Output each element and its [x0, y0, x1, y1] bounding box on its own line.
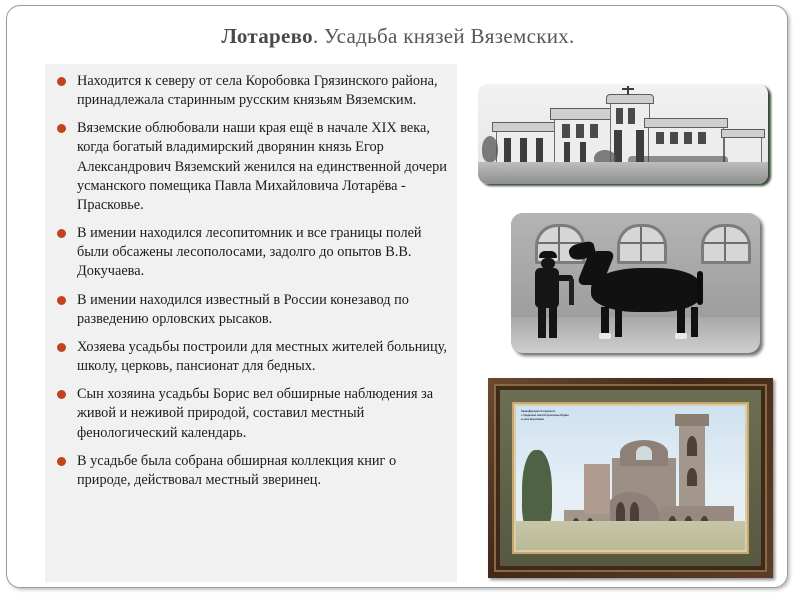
image-orlov-trotter-photo [511, 213, 760, 353]
horse-hoof [599, 333, 611, 339]
list-item-text: Сын хозяина усадьбы Борис вел обширные н… [77, 386, 433, 440]
list-item-text: В усадьбе была собрана обширная коллекци… [77, 453, 396, 488]
list-item-text: Находится к северу от села Коробовка Гря… [77, 73, 438, 108]
bullet-dot-icon [57, 124, 66, 133]
list-item: Хозяева усадьбы построили для местных жи… [49, 338, 447, 376]
church-lawn [516, 521, 745, 550]
horse-leg [615, 307, 622, 337]
engraving-window [684, 132, 692, 144]
content-text-panel: Находится к северу от села Коробовка Гря… [45, 64, 457, 582]
bullet-dot-icon [57, 229, 66, 238]
bullet-dot-icon [57, 77, 66, 86]
horse-body [591, 268, 701, 312]
engraving-column [504, 138, 511, 164]
list-item-text: Хозяева усадьбы построили для местных жи… [77, 339, 447, 374]
bullet-dot-icon [57, 343, 66, 352]
horse-hoof [675, 333, 687, 339]
church-window [616, 502, 625, 522]
engraving-spire-cross [622, 88, 634, 90]
page-title-rest: . Усадьба князей Вяземских. [313, 24, 575, 48]
church-ruined-tower [584, 464, 610, 514]
engraving-window [628, 108, 635, 124]
list-item: В имении находился известный в России ко… [49, 291, 447, 329]
church-bell-tower-top [675, 414, 709, 426]
bullet-dot-icon [57, 457, 66, 466]
engraving-column [536, 138, 543, 164]
engraving-window [656, 132, 664, 144]
church-window [630, 502, 639, 522]
handler-leg [538, 306, 546, 338]
bullet-list: Находится к северу от села Коробовка Гря… [49, 72, 447, 490]
list-item: В усадьбе была собрана обширная коллекци… [49, 452, 447, 490]
list-item-text: Вяземские облюбовали наши края ещё в нач… [77, 120, 447, 213]
image-church-framed: Храм Дмитрия Солунского с приделом свято… [488, 378, 773, 578]
church-photo: Храм Дмитрия Солунского с приделом свято… [516, 406, 745, 550]
engraving-right-roof [644, 118, 728, 128]
list-item: Находится к северу от села Коробовка Гря… [49, 72, 447, 110]
church-dome-opening [636, 446, 652, 460]
stable-arched-window [701, 224, 751, 264]
engraving-tower-roof [606, 94, 654, 104]
engraving-window [576, 124, 584, 138]
engraving-window [590, 124, 598, 138]
list-item: В имении находился лесопитомник и все гр… [49, 224, 447, 281]
church-window [687, 468, 697, 486]
handler-coat [535, 268, 559, 308]
page-title: Лотарево. Усадьба князей Вяземских. [7, 24, 788, 49]
engraving-column [520, 138, 527, 164]
list-item: Вяземские облюбовали наши края ещё в нач… [49, 119, 447, 215]
list-item-text: В имении находился лесопитомник и все гр… [77, 225, 422, 279]
engraving-window [562, 124, 570, 138]
list-item-text: В имении находился известный в России ко… [77, 292, 409, 327]
list-item: Сын хозяина усадьбы Борис вел обширные н… [49, 385, 447, 442]
church-window [687, 436, 697, 456]
engraving-window [698, 132, 706, 144]
engraving-window [616, 108, 623, 124]
horse-tail [697, 271, 703, 305]
handler-cap-icon [539, 251, 557, 258]
lead-rope [569, 279, 574, 305]
page-title-lead: Лотарево [221, 24, 313, 48]
bullet-dot-icon [57, 390, 66, 399]
handler-leg [549, 306, 557, 338]
horse-leg [691, 307, 698, 337]
engraving-pavilion-roof [721, 129, 765, 138]
bullet-dot-icon [57, 296, 66, 305]
church-photo-caption: Храм Дмитрия Солунского с приделом свято… [521, 410, 672, 422]
engraving-tree [482, 136, 498, 162]
presentation-slide: Лотарево. Усадьба князей Вяземских. Нахо… [6, 5, 788, 588]
engraving-main-roof [550, 108, 618, 120]
stable-arched-window [617, 224, 667, 264]
engraving-foreground [478, 162, 768, 184]
image-manor-engraving [478, 84, 768, 184]
engraving-window [670, 132, 678, 144]
